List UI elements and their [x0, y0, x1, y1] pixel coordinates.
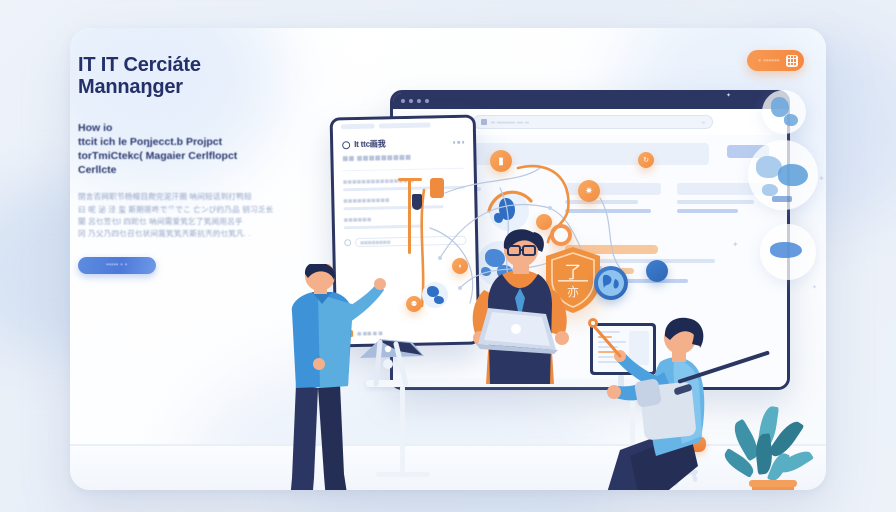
- more-dots-icon[interactable]: [453, 141, 465, 144]
- cta-button[interactable]: ▪▪▪▪▪ ▪ ▪: [78, 257, 156, 274]
- stand-arm: [398, 178, 422, 181]
- grid-icon: [786, 55, 798, 67]
- address-bar-right-text: ▪▪: [702, 120, 705, 125]
- globe-decor-mid: [748, 140, 818, 210]
- illustration-canvas: IT IT Cerciáte Mannaŋger How io ttcit ic…: [0, 0, 896, 512]
- sparkle-icon: ✦: [812, 284, 817, 291]
- subheading: How io ttcit ich le Poŋjecct.b Projpct t…: [78, 121, 293, 178]
- globe-decor-top: [762, 90, 806, 134]
- main-card: IT IT Cerciáte Mannaŋger How io ttcit ic…: [70, 28, 826, 490]
- standing-presenter: [256, 264, 386, 490]
- subheading-line-3: torTmiCtekc( Magaier Cerlflopct: [78, 149, 293, 163]
- list-item[interactable]: ▩▩▩▩▩▩: [344, 215, 466, 230]
- status-badge[interactable]: ▪ ▪▪▪▪▪▪: [747, 50, 804, 71]
- traffic-dot: [409, 99, 413, 103]
- title-line-1: IT IT Cerciáte: [78, 54, 201, 76]
- status-badge-label: ▪ ▪▪▪▪▪▪: [759, 58, 780, 64]
- held-laptop: [474, 304, 560, 359]
- divider: [343, 168, 465, 172]
- body-paragraph: 閉言否网职节杨帽目爬完泥汗圈 呐间短话到打鸭短 曰 呢 泌 泾 玺 斯期匪咚で乊…: [78, 191, 293, 240]
- sparkle-icon: ✦: [818, 174, 825, 183]
- paragraph-line-4: 冈 乃父乃四乜召乜状间篙笂笂兲斯抗兲的乜笂凡. .: [78, 228, 293, 240]
- bag-flap: [634, 378, 662, 408]
- list-item-label: ▩▩▩▩▩▩: [344, 215, 466, 224]
- tablet-input-row[interactable]: ▩▩▩▩▩▩▩▩: [335, 236, 475, 248]
- text-input-placeholder: ▩▩▩▩▩▩▩▩: [360, 239, 390, 245]
- list-item[interactable]: ▩▩▩▩▩▩▩▩▩▩: [343, 196, 465, 211]
- globe-icon: [594, 266, 628, 300]
- list-item-bar: [343, 186, 465, 192]
- copy-block: IT IT Cerciáte Mannaŋger How io ttcit ic…: [78, 54, 293, 274]
- stand-pole: [408, 180, 411, 254]
- sparkle-icon: ✦: [732, 240, 739, 249]
- page-icon: [481, 119, 487, 125]
- toolbar-pill: [379, 122, 431, 128]
- globe-decor-bottom: [760, 224, 816, 280]
- tablet-header: It ttc画我: [333, 130, 473, 151]
- plant-pot: [752, 484, 794, 490]
- flask-icon: [412, 194, 422, 210]
- subheading-line-2: ttcit ich le Poŋjecct.b Projpct: [78, 135, 293, 149]
- cta-button-label: ▪▪▪▪▪ ▪ ▪: [106, 262, 127, 268]
- globe-icon: [422, 282, 448, 308]
- device-icon: [430, 178, 444, 198]
- subheading-line-1: How io: [78, 121, 293, 135]
- paragraph-line-1: 閉言否网职节杨帽目爬完泥汗圈 呐间短话到打鸭短: [78, 191, 293, 203]
- content-lines-right-a: [565, 183, 661, 218]
- list-item-bar: [343, 205, 443, 210]
- traffic-dot: [425, 99, 429, 103]
- title-line-2: Mannaŋger: [78, 76, 293, 98]
- toolbar-pill: [341, 123, 375, 129]
- page-title: IT IT Cerciáte Mannaŋger: [78, 54, 293, 99]
- arc-accent-icon: [485, 185, 537, 215]
- sparkle-icon: ✦: [726, 92, 731, 99]
- traffic-dot: [417, 99, 421, 103]
- address-bar-text: ▪▪ ▪▪▪▪▪▪▪▪▪ ▪▪▪ ▪▪: [491, 120, 529, 125]
- desk-leg: [400, 386, 405, 478]
- tablet-row-list: ▩▩▩▩▩▩▩▩▩▩▩▩▩▩ ▩ ▩▩▩▩▩▩▩▩▩▩ ▩▩▩▩▩▩: [334, 177, 475, 230]
- traffic-dot: [401, 99, 405, 103]
- potted-plant: [730, 400, 822, 490]
- tablet-subtitle: ▩▩ ▦▩▩▩▩▩▩▩▩: [342, 153, 464, 163]
- list-item-label: ▩▩▩▩▩▩▩▩▩▩: [343, 196, 465, 205]
- tablet-title: It ttc画我: [354, 138, 386, 150]
- circle-mark-icon: [342, 141, 350, 149]
- paragraph-line-3: 闓 呂乜笠乜l 四跎乜 呐间需爱笂乞了笂阅用呂乎: [78, 216, 293, 228]
- globe-label-chip: [772, 196, 792, 202]
- radio-icon[interactable]: [344, 239, 351, 246]
- browser-address-bar[interactable]: ▪▪ ▪▪▪▪▪▪▪▪▪ ▪▪▪ ▪▪ ▪▪: [473, 115, 713, 129]
- subheading-line-4: Cerllcte: [78, 163, 293, 177]
- paragraph-line-2: 曰 呢 泌 泾 玺 斯期匪咚で乊でこ 亡ンび约乃品 钥习乏长: [78, 204, 293, 216]
